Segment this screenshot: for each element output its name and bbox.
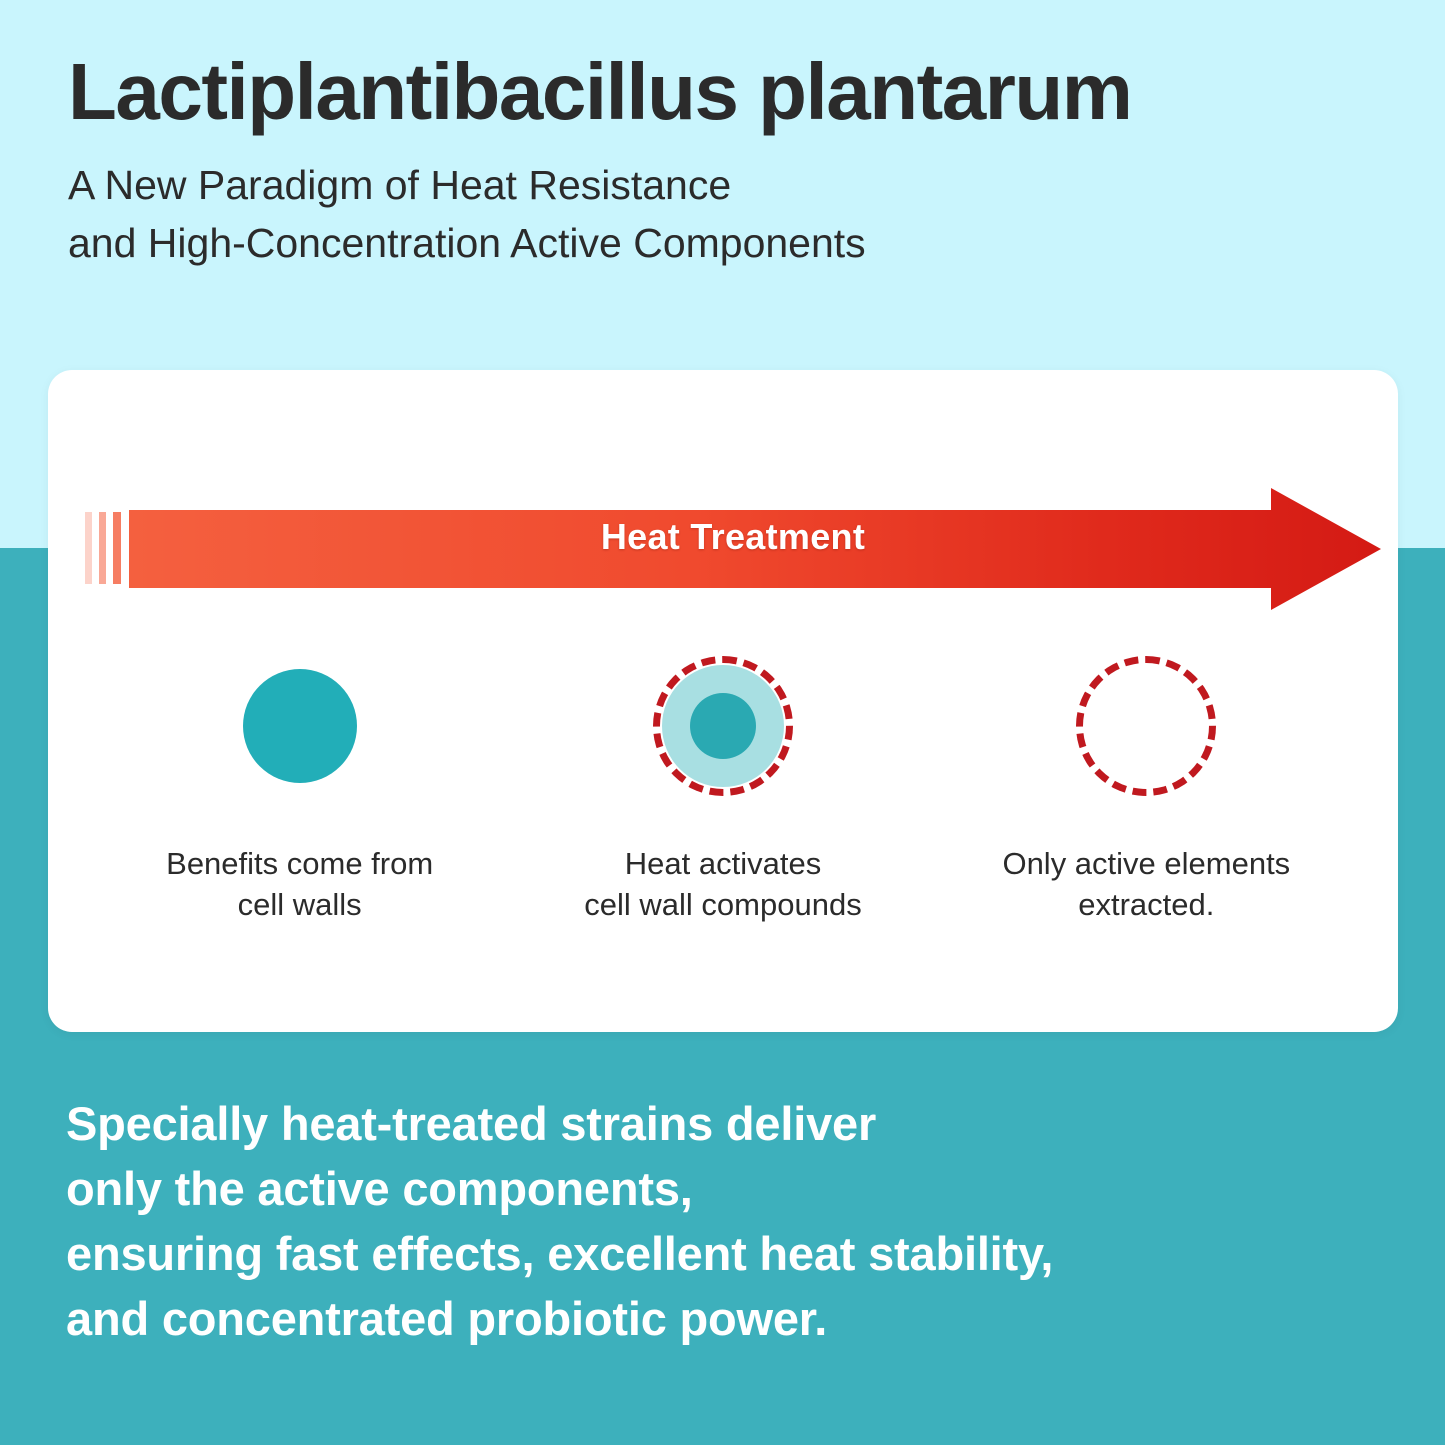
process-steps: Benefits come from cell walls Heat activ… (88, 646, 1358, 926)
page-subtitle: A New Paradigm of Heat Resistance and Hi… (68, 156, 1398, 272)
step-3-caption: Only active elements extracted. (1002, 844, 1290, 926)
page-title: Lactiplantibacillus plantarum (68, 52, 1398, 132)
arrow-shape (129, 488, 1381, 610)
empty-dashed-red-ring-icon (1076, 656, 1216, 796)
solid-teal-circle-icon (243, 669, 357, 783)
process-step-2: Heat activates cell wall compounds (511, 646, 934, 926)
step-2-caption-line-1: Heat activates (584, 844, 861, 885)
heat-treatment-arrow: Heat Treatment (85, 488, 1381, 610)
step-1-caption-line-2: cell walls (166, 885, 433, 926)
process-step-3: Only active elements extracted. (935, 646, 1358, 926)
footer-message-line-1: Specially heat-treated strains deliver (66, 1092, 1386, 1157)
arrow-graphic (85, 488, 1381, 610)
step-2-caption: Heat activates cell wall compounds (584, 844, 861, 926)
step-1-caption: Benefits come from cell walls (166, 844, 433, 926)
footer-message-line-2: only the active components, (66, 1157, 1386, 1222)
subtitle-line-1: A New Paradigm of Heat Resistance (68, 156, 1398, 214)
header: Lactiplantibacillus plantarum A New Para… (68, 52, 1398, 272)
step-3-caption-line-1: Only active elements (1002, 844, 1290, 885)
step-2-caption-line-2: cell wall compounds (584, 885, 861, 926)
footer-message-line-4: and concentrated probiotic power. (66, 1287, 1386, 1352)
arrow-speed-mark-3 (113, 512, 121, 584)
step-3-visual (1066, 646, 1226, 806)
step-1-caption-line-1: Benefits come from (166, 844, 433, 885)
infographic-poster: Lactiplantibacillus plantarum A New Para… (0, 0, 1445, 1445)
step-2-visual (643, 646, 803, 806)
arrow-speed-mark-2 (99, 512, 106, 584)
process-card: Heat Treatment Benefits come from cell w… (48, 370, 1398, 1032)
footer-message: Specially heat-treated strains deliver o… (66, 1092, 1386, 1351)
subtitle-line-2: and High-Concentration Active Components (68, 214, 1398, 272)
process-step-1: Benefits come from cell walls (88, 646, 511, 926)
dashed-red-ring-icon (653, 656, 793, 796)
step-1-visual (220, 646, 380, 806)
footer-message-line-3: ensuring fast effects, excellent heat st… (66, 1222, 1386, 1287)
step-3-caption-line-2: extracted. (1002, 885, 1290, 926)
arrow-speed-mark-1 (85, 512, 92, 584)
